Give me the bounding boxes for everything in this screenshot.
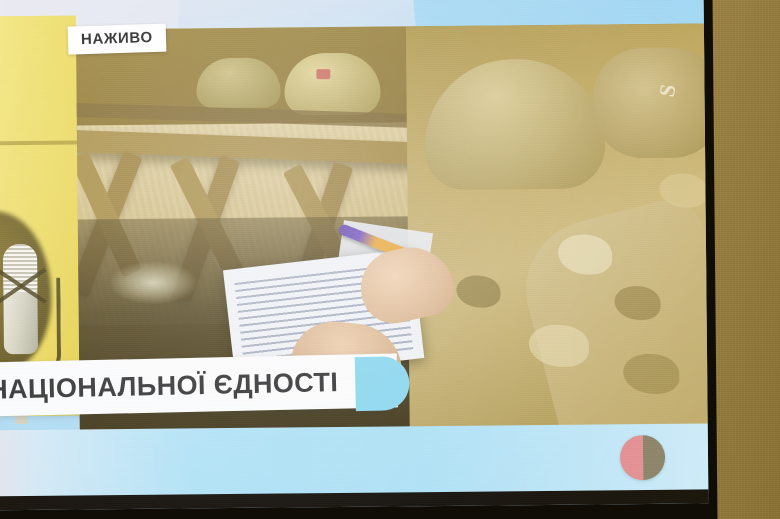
- logo-right-half: [642, 435, 665, 480]
- photo-helmet-back-1: [284, 53, 381, 116]
- live-badge: НАЖИВО: [68, 24, 167, 55]
- photo-soldier-camo: S: [406, 23, 708, 428]
- photo-soldier-helmet: [424, 58, 605, 190]
- studio-yellow-panel: [0, 15, 80, 416]
- logo-left-half: [620, 435, 643, 480]
- bottom-band: [0, 423, 708, 496]
- room-background: S НАЖИВО Т Н: [0, 0, 780, 519]
- photo-soldier-sleeve: [511, 192, 708, 431]
- photo-soldier-shoulder: [592, 47, 708, 158]
- camo-spot: [456, 275, 500, 307]
- photo-helmet-tag: [316, 69, 330, 79]
- channel-logo: [620, 435, 665, 480]
- projected-slide: S НАЖИВО Т Н: [0, 0, 708, 511]
- camo-spot: [529, 325, 589, 368]
- photo-helmet-back-2: [196, 58, 280, 109]
